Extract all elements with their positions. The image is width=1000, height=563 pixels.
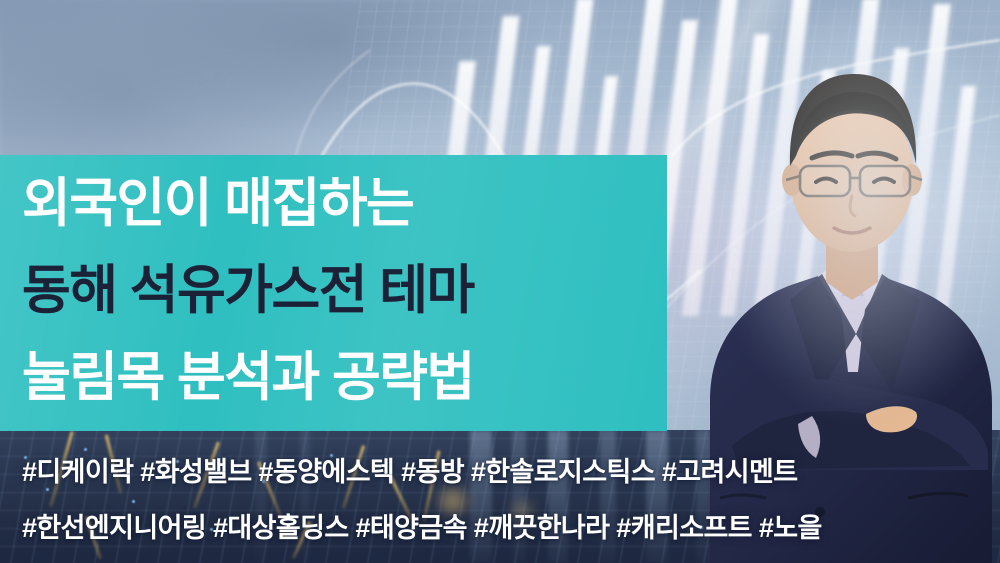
title-line-3: 눌림목 분석과 공략법 xyxy=(22,334,662,421)
hashtag-block: #디케이락 #화성밸브 #동양에스텍 #동방 #한솔로지스틱스 #고려시멘트 #… xyxy=(22,444,982,556)
hashtag-line-2: #한선엔지니어링 #대상홀딩스 #태양금속 #깨끗한나라 #캐리소프트 #노을 xyxy=(22,500,982,556)
hashtag-line-1: #디케이락 #화성밸브 #동양에스텍 #동방 #한솔로지스틱스 #고려시멘트 xyxy=(22,444,982,500)
title-line-1: 외국인이 매집하는 xyxy=(22,160,662,247)
title-line-2: 동해 석유가스전 테마 xyxy=(22,247,662,334)
title-block: 외국인이 매집하는 동해 석유가스전 테마 눌림목 분석과 공략법 xyxy=(22,160,662,421)
thumbnail-stage: 외국인이 매집하는 동해 석유가스전 테마 눌림목 분석과 공략법 #디케이락 … xyxy=(0,0,1000,563)
